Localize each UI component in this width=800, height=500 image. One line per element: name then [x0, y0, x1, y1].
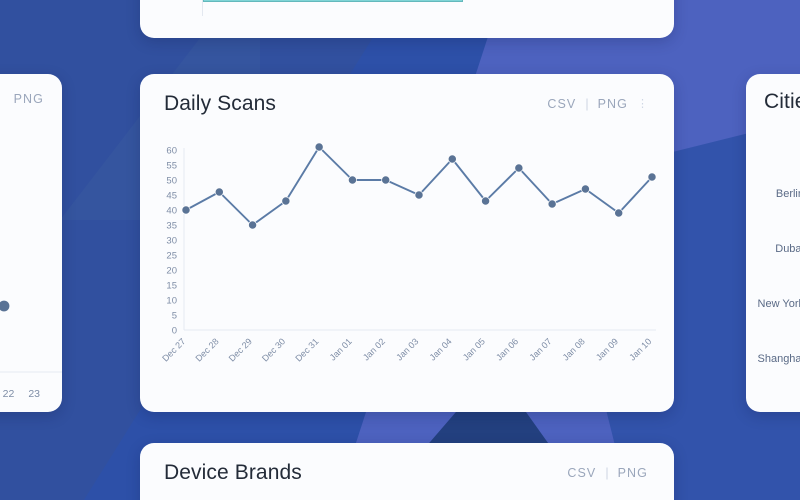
mini-chart-line [0, 306, 4, 368]
y-axis-tick-label: 60 [166, 146, 177, 157]
y-axis-tick-label: 30 [166, 236, 177, 247]
csv-export-link-device-brands[interactable]: CSV [567, 466, 596, 480]
top-chart-axis-line [202, 0, 203, 16]
daily-scans-line-chart: 605550454035302520151050Dec 27Dec 28Dec … [140, 142, 674, 392]
x-axis-tick-label: Dec 29 [227, 336, 254, 363]
card-cities-header: Cities [746, 74, 800, 114]
cities-row: New York [746, 276, 800, 331]
card-device-brands: Device Brands CSV | PNG [140, 443, 674, 500]
card-daily-scans-actions: CSV | PNG ⋮ [547, 97, 650, 111]
x-axis-tick-label: Jan 08 [561, 336, 587, 362]
cities-row: Berlin [746, 166, 800, 221]
card-cities-partial: Cities BerlinDubaiNew YorkShanghai [746, 74, 800, 412]
chart-data-point[interactable] [415, 191, 423, 199]
chart-data-point[interactable] [215, 188, 223, 196]
chart-data-point[interactable] [182, 206, 190, 214]
chart-line-series [186, 147, 652, 225]
chart-data-point[interactable] [615, 209, 623, 217]
device-brands-title: Device Brands [164, 461, 302, 485]
chart-data-point[interactable] [515, 164, 523, 172]
x-axis-tick-label: Dec 27 [160, 336, 187, 363]
x-axis-tick-label: Jan 02 [361, 336, 387, 362]
top-chart-bar [203, 0, 463, 2]
x-axis-tick-label: Jan 10 [627, 336, 653, 362]
y-axis-tick-label: 10 [166, 296, 177, 307]
y-axis-tick-label: 20 [166, 266, 177, 277]
card-daily-scans: Daily Scans CSV | PNG ⋮ 6055504540353025… [140, 74, 674, 412]
csv-export-link[interactable]: CSV [547, 97, 576, 111]
chart-data-point[interactable] [481, 197, 489, 205]
card-device-brands-actions: CSV | PNG [567, 466, 650, 480]
x-axis-tick-label: Dec 31 [293, 336, 320, 363]
cities-row-label: Shanghai [758, 353, 800, 365]
png-export-link-left[interactable]: PNG [14, 92, 44, 106]
page-title: Daily Scans [164, 92, 276, 116]
mini-axis-tick: 23 [28, 388, 40, 400]
action-separator: | [605, 466, 608, 480]
y-axis-tick-label: 55 [166, 161, 177, 172]
mini-chart-x-axis: 22 23 [0, 388, 62, 400]
cities-row: Dubai [746, 221, 800, 276]
card-daily-scans-header: Daily Scans CSV | PNG ⋮ [140, 74, 674, 116]
cities-row-label: New York [758, 298, 800, 310]
y-axis-tick-label: 15 [166, 281, 177, 292]
y-axis-tick-label: 0 [172, 326, 177, 337]
x-axis-tick-label: Jan 07 [527, 336, 553, 362]
chart-data-point[interactable] [382, 176, 390, 184]
action-separator: | [585, 97, 588, 111]
chart-data-point[interactable] [581, 185, 589, 193]
mini-axis-tick: 22 [3, 388, 15, 400]
x-axis-tick-label: Jan 04 [428, 336, 454, 362]
dashboard-screen: ... PNG 22 23 Daily Scans CSV | [0, 0, 800, 500]
mini-line-chart [0, 268, 62, 378]
chart-data-point[interactable] [448, 155, 456, 163]
chart-data-point[interactable] [248, 221, 256, 229]
card-device-brands-header: Device Brands CSV | PNG [140, 443, 674, 485]
png-export-link-device-brands[interactable]: PNG [618, 466, 648, 480]
x-axis-tick-label: Jan 06 [494, 336, 520, 362]
chart-data-point[interactable] [348, 176, 356, 184]
png-export-link[interactable]: PNG [598, 97, 628, 111]
x-axis-tick-label: Jan 03 [394, 336, 420, 362]
y-axis-tick-label: 50 [166, 176, 177, 187]
y-axis-tick-label: 5 [172, 311, 177, 322]
cities-title: Cities [764, 90, 800, 114]
x-axis-tick-label: Jan 01 [328, 336, 354, 362]
chart-data-point[interactable] [648, 173, 656, 181]
y-axis-tick-label: 45 [166, 191, 177, 202]
y-axis-tick-label: 25 [166, 251, 177, 262]
x-axis-tick-label: Dec 30 [260, 336, 287, 363]
y-axis-tick-label: 35 [166, 221, 177, 232]
chart-data-point[interactable] [315, 143, 323, 151]
card-left-actions: PNG [14, 92, 62, 106]
cities-row-list: BerlinDubaiNew YorkShanghai [746, 166, 800, 386]
chart-data-point[interactable] [548, 200, 556, 208]
card-top-partial: ... [140, 0, 674, 38]
overflow-menu-icon[interactable]: ⋮ [637, 99, 648, 110]
card-left-header: PNG [0, 74, 62, 106]
top-chart-bar-row: ... [140, 0, 674, 16]
chart-data-point[interactable] [282, 197, 290, 205]
card-left-partial: PNG 22 23 [0, 74, 62, 412]
mini-chart-point [0, 301, 9, 312]
daily-scans-plot-area: 605550454035302520151050Dec 27Dec 28Dec … [140, 142, 674, 392]
x-axis-tick-label: Jan 09 [594, 336, 620, 362]
y-axis-tick-label: 40 [166, 206, 177, 217]
cities-row-label: Berlin [776, 188, 800, 200]
x-axis-tick-label: Jan 05 [461, 336, 487, 362]
x-axis-tick-label: Dec 28 [193, 336, 220, 363]
cities-row-label: Dubai [775, 243, 800, 255]
cities-row: Shanghai [746, 331, 800, 386]
